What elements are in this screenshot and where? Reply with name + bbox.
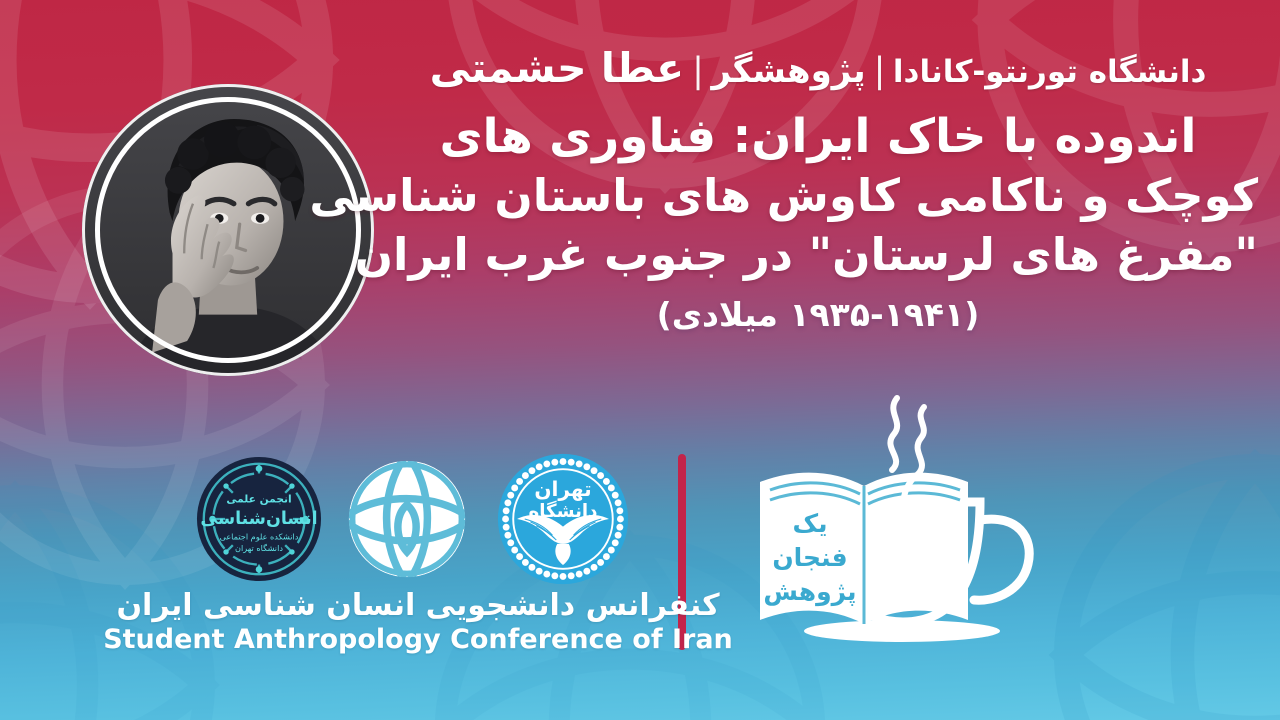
conference-poster: دانشگاه تورنتو-کانادا|پژوهشگر|عطا حشمتی … (0, 0, 1280, 720)
headline-block: دانشگاه تورنتو-کانادا|پژوهشگر|عطا حشمتی … (378, 46, 1258, 337)
svg-text:دانشگاه: دانشگاه (529, 500, 598, 522)
portrait-outer-ring (82, 84, 374, 376)
speaker-separator-1: | (866, 52, 893, 91)
svg-text:انسان‌شناسی: انسان‌شناسی (200, 509, 317, 529)
logo-university-of-tehran: تهران دانشگاه (496, 452, 630, 586)
speaker-name: عطا حشمتی (430, 44, 685, 92)
svg-text:دانشگاه تهران: دانشگاه تهران (235, 543, 283, 553)
speaker-affiliation: دانشگاه تورنتو-کانادا (893, 54, 1206, 90)
talk-date-range: (۱۹۳۵-۱۹۴۱ میلادی) (378, 294, 1258, 337)
conference-name-fa: کنفرانس دانشجویی انسان شناسی ایران (0, 588, 836, 623)
conference-name-en: Student Anthropology Conference of Iran (0, 624, 836, 656)
speaker-separator-2: | (684, 52, 711, 91)
svg-text:دانشکده علوم اجتماعی: دانشکده علوم اجتماعی (220, 531, 299, 541)
svg-text:فنجان: فنجان (772, 543, 847, 572)
talk-title: اندوده با خاک ایران: فناوری های کوچک و ن… (378, 106, 1258, 337)
speaker-role: پژوهشگر (711, 51, 865, 91)
talk-title-line-2: کوچک و ناکامی کاوش های باستان شناسی (378, 167, 1258, 226)
speaker-portrait (82, 84, 374, 376)
svg-text:تهران: تهران (534, 477, 591, 501)
logo-anthropology-association: انجمن علمی انسان‌شناسی دانشکده علوم اجتم… (196, 456, 322, 582)
logo-conference-globe (346, 458, 468, 580)
talk-title-line-1: اندوده با خاک ایران: فناوری های (378, 106, 1258, 167)
svg-text:انجمن علمی: انجمن علمی (226, 493, 291, 506)
svg-text:یک: یک (793, 509, 828, 538)
talk-title-line-3: "مفرغ های لرستان" در جنوب غرب ایران (378, 226, 1258, 285)
conference-name-block: کنفرانس دانشجویی انسان شناسی ایران Stude… (0, 588, 836, 657)
speaker-line: دانشگاه تورنتو-کانادا|پژوهشگر|عطا حشمتی (378, 46, 1258, 92)
